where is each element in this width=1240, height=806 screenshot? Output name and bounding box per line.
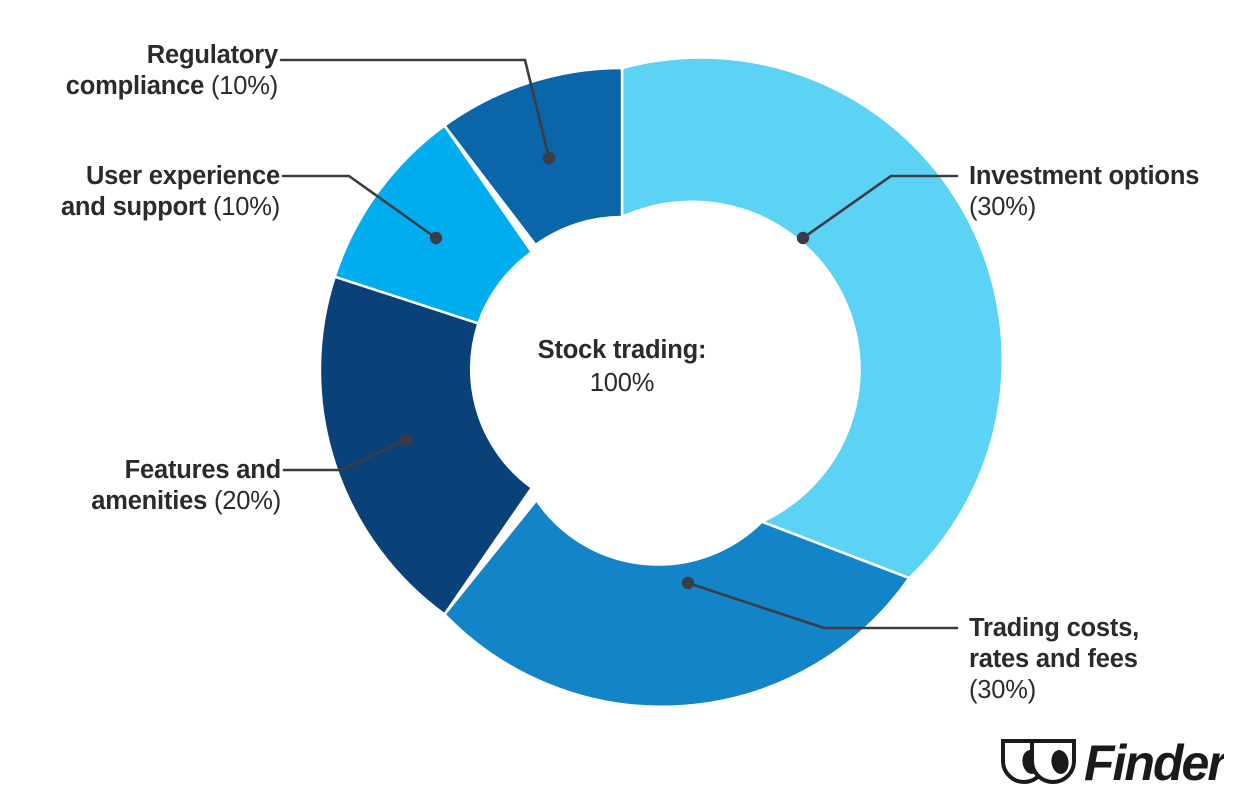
- label-regulatory-compliance[interactable]: Regulatory compliance (10%): [0, 40, 278, 102]
- label-investment-value: (30%): [969, 193, 1036, 221]
- label-user-experience-value: (10%): [213, 193, 280, 221]
- label-investment-options[interactable]: Investment options (30%): [969, 161, 1240, 223]
- label-trading-line1-name: Trading costs,: [969, 614, 1139, 642]
- label-trading-costs[interactable]: Trading costs, rates and fees (30%): [969, 613, 1240, 706]
- label-features-line2-name: amenities: [91, 487, 214, 515]
- finder-logo-svg: Finder: [998, 731, 1224, 789]
- eye-icon-right: [1032, 741, 1074, 782]
- label-investment-line1-name: Investment options: [969, 162, 1199, 190]
- label-regulatory-line1: Regulatory: [147, 41, 278, 69]
- label-features-amenities[interactable]: Features and amenities (20%): [0, 455, 281, 517]
- leader-dot-regulatory: [543, 152, 555, 164]
- leader-dot-user-experience: [430, 232, 442, 244]
- donut-center-label: Stock trading: 100%: [472, 334, 772, 400]
- center-value: 100%: [472, 367, 772, 400]
- label-user-experience-line1: User experience: [86, 162, 280, 190]
- label-user-experience-line2-name: and support: [61, 193, 213, 221]
- label-regulatory-value: (10%): [211, 72, 278, 100]
- chart-page: Regulatory compliance (10%) User experie…: [0, 0, 1240, 806]
- label-user-experience[interactable]: User experience and support (10%): [0, 161, 280, 223]
- label-features-value: (20%): [214, 487, 281, 515]
- leader-dot-trading: [682, 577, 694, 589]
- label-regulatory-line2-name: compliance: [66, 72, 211, 100]
- finder-wordmark: Finder: [1084, 735, 1224, 789]
- finder-logo: Finder: [998, 731, 1224, 789]
- label-trading-line2-name: rates and fees: [969, 645, 1138, 673]
- label-features-line1: Features and: [125, 456, 281, 484]
- slice-investment-options[interactable]: [622, 58, 1003, 579]
- leader-dot-features: [400, 434, 412, 446]
- label-trading-value: (30%): [969, 676, 1036, 704]
- center-title: Stock trading:: [472, 334, 772, 367]
- leader-dot-investment: [797, 232, 809, 244]
